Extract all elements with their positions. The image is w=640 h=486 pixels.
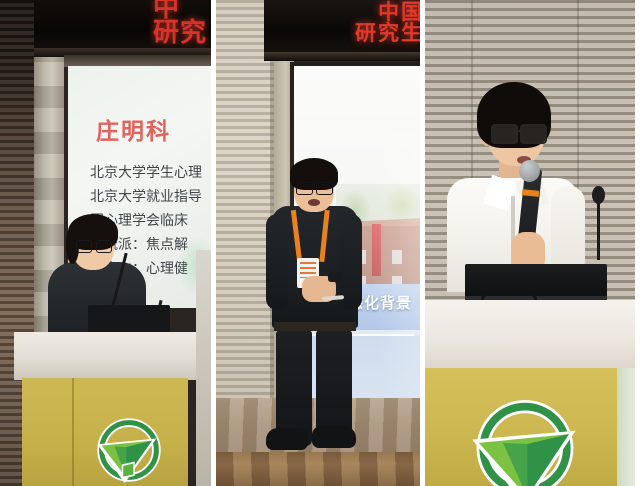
podium-top-panel-1 bbox=[14, 332, 196, 380]
glasses-icon-panel-2 bbox=[296, 182, 333, 194]
led-banner-line2-panel-2: 研究生 bbox=[355, 23, 420, 44]
speaker-mouth-panel-2 bbox=[308, 199, 320, 206]
led-banner-panel-1: 中 研究 bbox=[34, 0, 211, 52]
photo-panel-1: 中 研究 庄明科 北京大学学生心理 北京大学就业指导 国心理学会临床 询流派：焦… bbox=[0, 0, 211, 486]
laptop-panel-1 bbox=[88, 305, 170, 333]
stage-edge-panel-2 bbox=[216, 452, 420, 486]
speaker-right-shoe-panel-2 bbox=[312, 426, 356, 448]
right-wall-panel-1 bbox=[196, 250, 211, 486]
led-banner-text-panel-1: 中 研究 bbox=[153, 0, 207, 46]
led-banner-text-panel-2: 中国 研究生 bbox=[355, 2, 420, 44]
led-banner-panel-2: 中国 研究生 bbox=[264, 0, 420, 57]
glasses-icon-panel-3 bbox=[491, 124, 547, 141]
banner-lip-panel-2 bbox=[264, 52, 420, 61]
gooseneck-microphone-head-panel-3 bbox=[592, 186, 605, 204]
podium-right-edge-panel-3 bbox=[617, 368, 635, 486]
photo-panel-2: 常态化背景 中国 研究生 bbox=[216, 0, 420, 486]
photo-triptych: 中 研究 庄明科 北京大学学生心理 北京大学就业指导 国心理学会临床 询流派：焦… bbox=[0, 0, 640, 486]
wristwatch-panel-2 bbox=[328, 272, 342, 282]
speaker-left-shoe-panel-2 bbox=[266, 428, 308, 450]
gooseneck-microphone-panel-3 bbox=[597, 196, 600, 260]
slide-line-2-panel-1: 北京大学就业指导 bbox=[90, 186, 202, 206]
speaker-belt-panel-2 bbox=[274, 322, 356, 331]
photo-panel-3 bbox=[425, 0, 635, 486]
speaker-left-arm-panel-2 bbox=[266, 214, 288, 310]
slide-title-panel-1: 庄明科 bbox=[96, 112, 171, 146]
glasses-bridge-panel-3 bbox=[513, 130, 523, 132]
glasses-icon-panel-1 bbox=[76, 240, 112, 252]
slide-line-1-panel-1: 北京大学学生心理 bbox=[90, 162, 202, 182]
podium-seam-panel-1 bbox=[72, 378, 74, 486]
led-banner-line1-panel-2: 中国 bbox=[355, 2, 420, 23]
slide-window bbox=[392, 250, 402, 264]
led-banner-line2-panel-1: 研究 bbox=[153, 21, 207, 46]
podium-top-panel-3 bbox=[425, 300, 635, 370]
green-arrow-circle-logo-panel-1 bbox=[92, 414, 166, 486]
green-arrow-circle-logo-panel-3 bbox=[465, 400, 585, 486]
slide-red-banner-panel-2 bbox=[372, 224, 381, 276]
